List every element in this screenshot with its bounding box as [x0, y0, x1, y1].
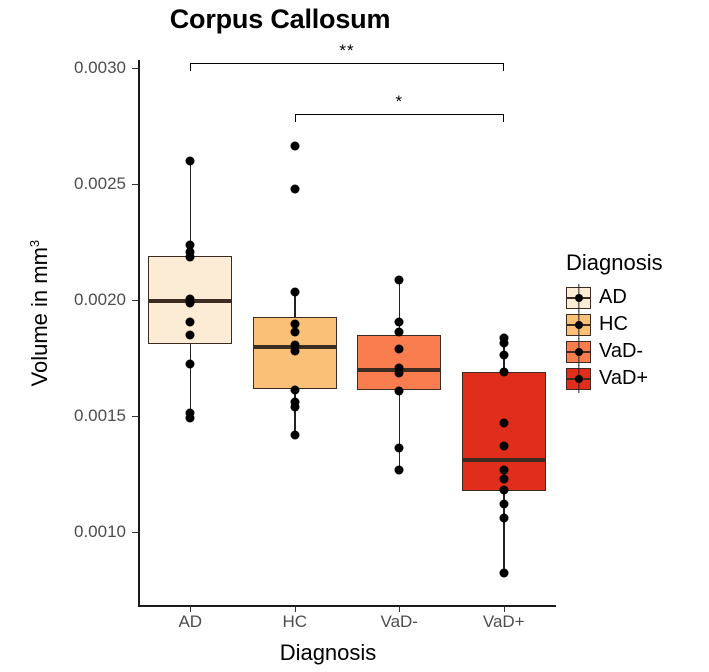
y-tick-label: 0.0025: [36, 174, 126, 194]
y-tick-label: 0.0030: [36, 58, 126, 78]
data-point: [290, 287, 299, 296]
data-point: [499, 338, 508, 347]
data-point: [499, 419, 508, 428]
data-point: [395, 276, 404, 285]
sig-ad-vadplus-bracket: [190, 63, 504, 71]
legend-item-ad[interactable]: AD: [566, 284, 709, 311]
data-point: [395, 386, 404, 395]
data-point: [290, 328, 299, 337]
data-point: [290, 347, 299, 356]
legend-key-swatch: [566, 368, 591, 390]
data-point: [186, 360, 195, 369]
x-tick-label-vad: VaD-: [339, 612, 459, 632]
data-point: [290, 386, 299, 395]
x-tick-label-hc: HC: [235, 612, 355, 632]
data-point: [499, 351, 508, 360]
legend-point-dot: [575, 294, 583, 302]
data-point: [290, 402, 299, 411]
legend-item-vad[interactable]: VaD-: [566, 338, 709, 365]
data-point: [395, 318, 404, 327]
data-point: [186, 156, 195, 165]
sig-hc-vadplus-bracket: [295, 114, 504, 122]
x-axis-title: Diagnosis: [118, 640, 538, 666]
legend-item-label: VaD+: [599, 367, 648, 390]
legend-item-vad[interactable]: VaD+: [566, 365, 709, 392]
data-point: [499, 475, 508, 484]
data-point: [186, 330, 195, 339]
data-point: [290, 184, 299, 193]
legend-key-swatch: [566, 287, 591, 309]
legend-point-dot: [575, 375, 583, 383]
legend-items: ADHCVaD-VaD+: [566, 284, 709, 392]
legend-point-dot: [575, 321, 583, 329]
data-point: [499, 513, 508, 522]
legend-item-label: VaD-: [599, 340, 643, 363]
data-point: [499, 442, 508, 451]
y-axis-title-superscript: 3: [27, 240, 42, 247]
legend-item-hc[interactable]: HC: [566, 311, 709, 338]
data-point: [499, 500, 508, 509]
data-point: [186, 299, 195, 308]
data-point: [290, 430, 299, 439]
legend-key-swatch: [566, 314, 591, 336]
data-point: [499, 569, 508, 578]
chart-title: Corpus Callosum: [0, 4, 560, 35]
data-point: [499, 465, 508, 474]
legend-item-label: HC: [599, 313, 628, 336]
legend: Diagnosis ADHCVaD-VaD+: [566, 250, 709, 392]
y-axis-line: [138, 60, 140, 607]
y-tick-label: 0.0015: [36, 406, 126, 426]
y-tick-label: 0.0020: [36, 290, 126, 310]
data-point: [499, 367, 508, 376]
sig-hc-vadplus-label: *: [395, 92, 403, 112]
whisker-lower: [399, 390, 401, 470]
legend-point-dot: [575, 348, 583, 356]
boxplot-figure: Corpus Callosum Volume in mm3 Diagnosis …: [0, 0, 709, 672]
data-point: [395, 465, 404, 474]
data-point: [186, 318, 195, 327]
y-axis-title-text: Volume in mm: [27, 247, 52, 386]
whisker-lower: [294, 389, 296, 435]
data-point: [395, 344, 404, 353]
data-point: [395, 328, 404, 337]
data-point: [395, 444, 404, 453]
whisker-lower: [190, 344, 192, 418]
legend-key-swatch: [566, 341, 591, 363]
x-tick-label-ad: AD: [130, 612, 250, 632]
median-line: [462, 458, 546, 462]
data-point: [186, 253, 195, 262]
x-axis-line: [138, 605, 556, 607]
y-tick-label: 0.0010: [36, 522, 126, 542]
data-point: [186, 413, 195, 422]
data-point: [395, 369, 404, 378]
legend-item-label: AD: [599, 286, 627, 309]
x-tick-label-vad: VaD+: [444, 612, 564, 632]
sig-ad-vadplus-label: **: [339, 41, 354, 61]
legend-title: Diagnosis: [566, 250, 709, 276]
data-point: [290, 141, 299, 150]
data-point: [499, 485, 508, 494]
